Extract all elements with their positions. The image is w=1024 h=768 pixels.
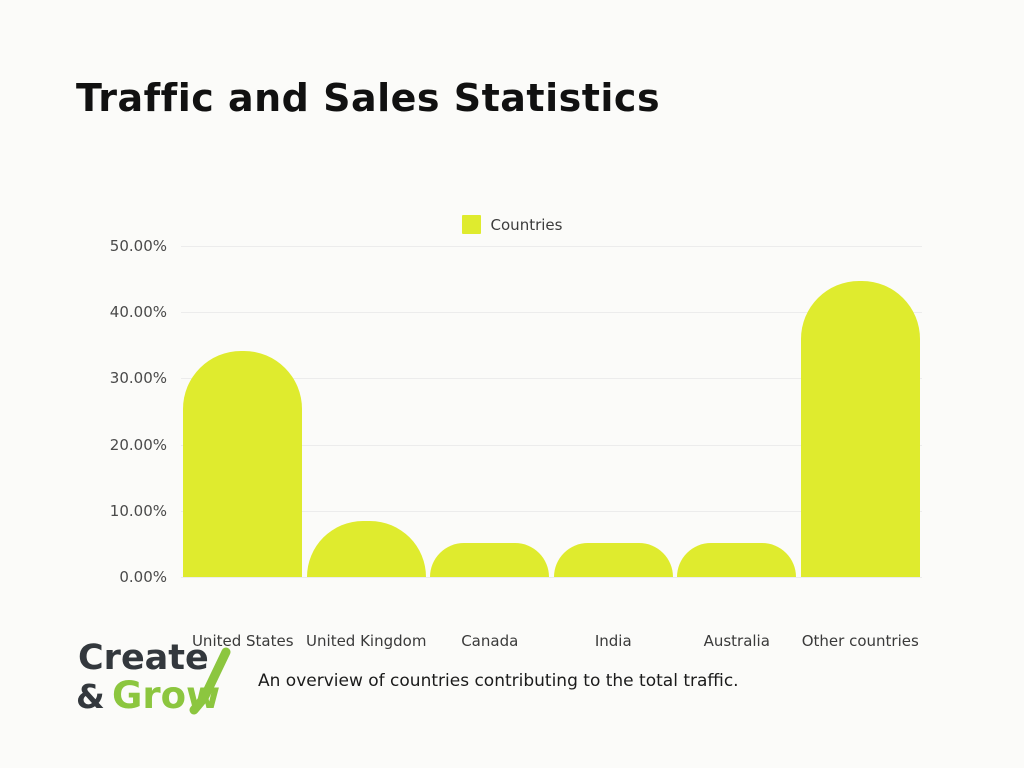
gridline xyxy=(181,246,922,247)
x-axis-tick-label: Canada xyxy=(428,632,552,650)
bar-other-countries[interactable] xyxy=(801,281,920,577)
y-axis-tick-label: 0.00% xyxy=(77,568,167,586)
bar-united-states[interactable] xyxy=(183,351,302,577)
y-axis-tick-label: 20.00% xyxy=(77,436,167,454)
page-title: Traffic and Sales Statistics xyxy=(76,76,660,120)
y-axis-tick-label: 50.00% xyxy=(77,237,167,255)
plot-area: 0.00%10.00%20.00%30.00%40.00%50.00%Unite… xyxy=(181,246,922,577)
create-and-grow-logo-icon: Create & Grow xyxy=(76,632,232,716)
logo-text-create: Create xyxy=(78,638,209,678)
y-axis-tick-label: 10.00% xyxy=(77,502,167,520)
y-axis-tick-label: 30.00% xyxy=(77,369,167,387)
x-axis-tick-label: United Kingdom xyxy=(305,632,429,650)
x-axis-tick-label: Australia xyxy=(675,632,799,650)
bar-chart: Countries 0.00%10.00%20.00%30.00%40.00%5… xyxy=(0,200,1024,610)
gridline xyxy=(181,577,922,578)
x-axis-tick-label: Other countries xyxy=(799,632,923,650)
legend-item-countries[interactable]: Countries xyxy=(462,215,563,234)
y-axis-tick-label: 40.00% xyxy=(77,303,167,321)
brand-logo: Create & Grow xyxy=(76,632,232,716)
logo-text-ampersand: & xyxy=(76,677,105,716)
x-axis-tick-label: India xyxy=(552,632,676,650)
caption-text: An overview of countries contributing to… xyxy=(258,671,739,691)
bar-canada[interactable] xyxy=(430,543,549,577)
bar-united-kingdom[interactable] xyxy=(307,521,426,577)
bar-india[interactable] xyxy=(554,543,673,577)
legend-item-label: Countries xyxy=(491,216,563,234)
bar-australia[interactable] xyxy=(677,543,796,577)
chart-legend: Countries xyxy=(0,215,1024,234)
legend-swatch-icon xyxy=(462,215,481,234)
